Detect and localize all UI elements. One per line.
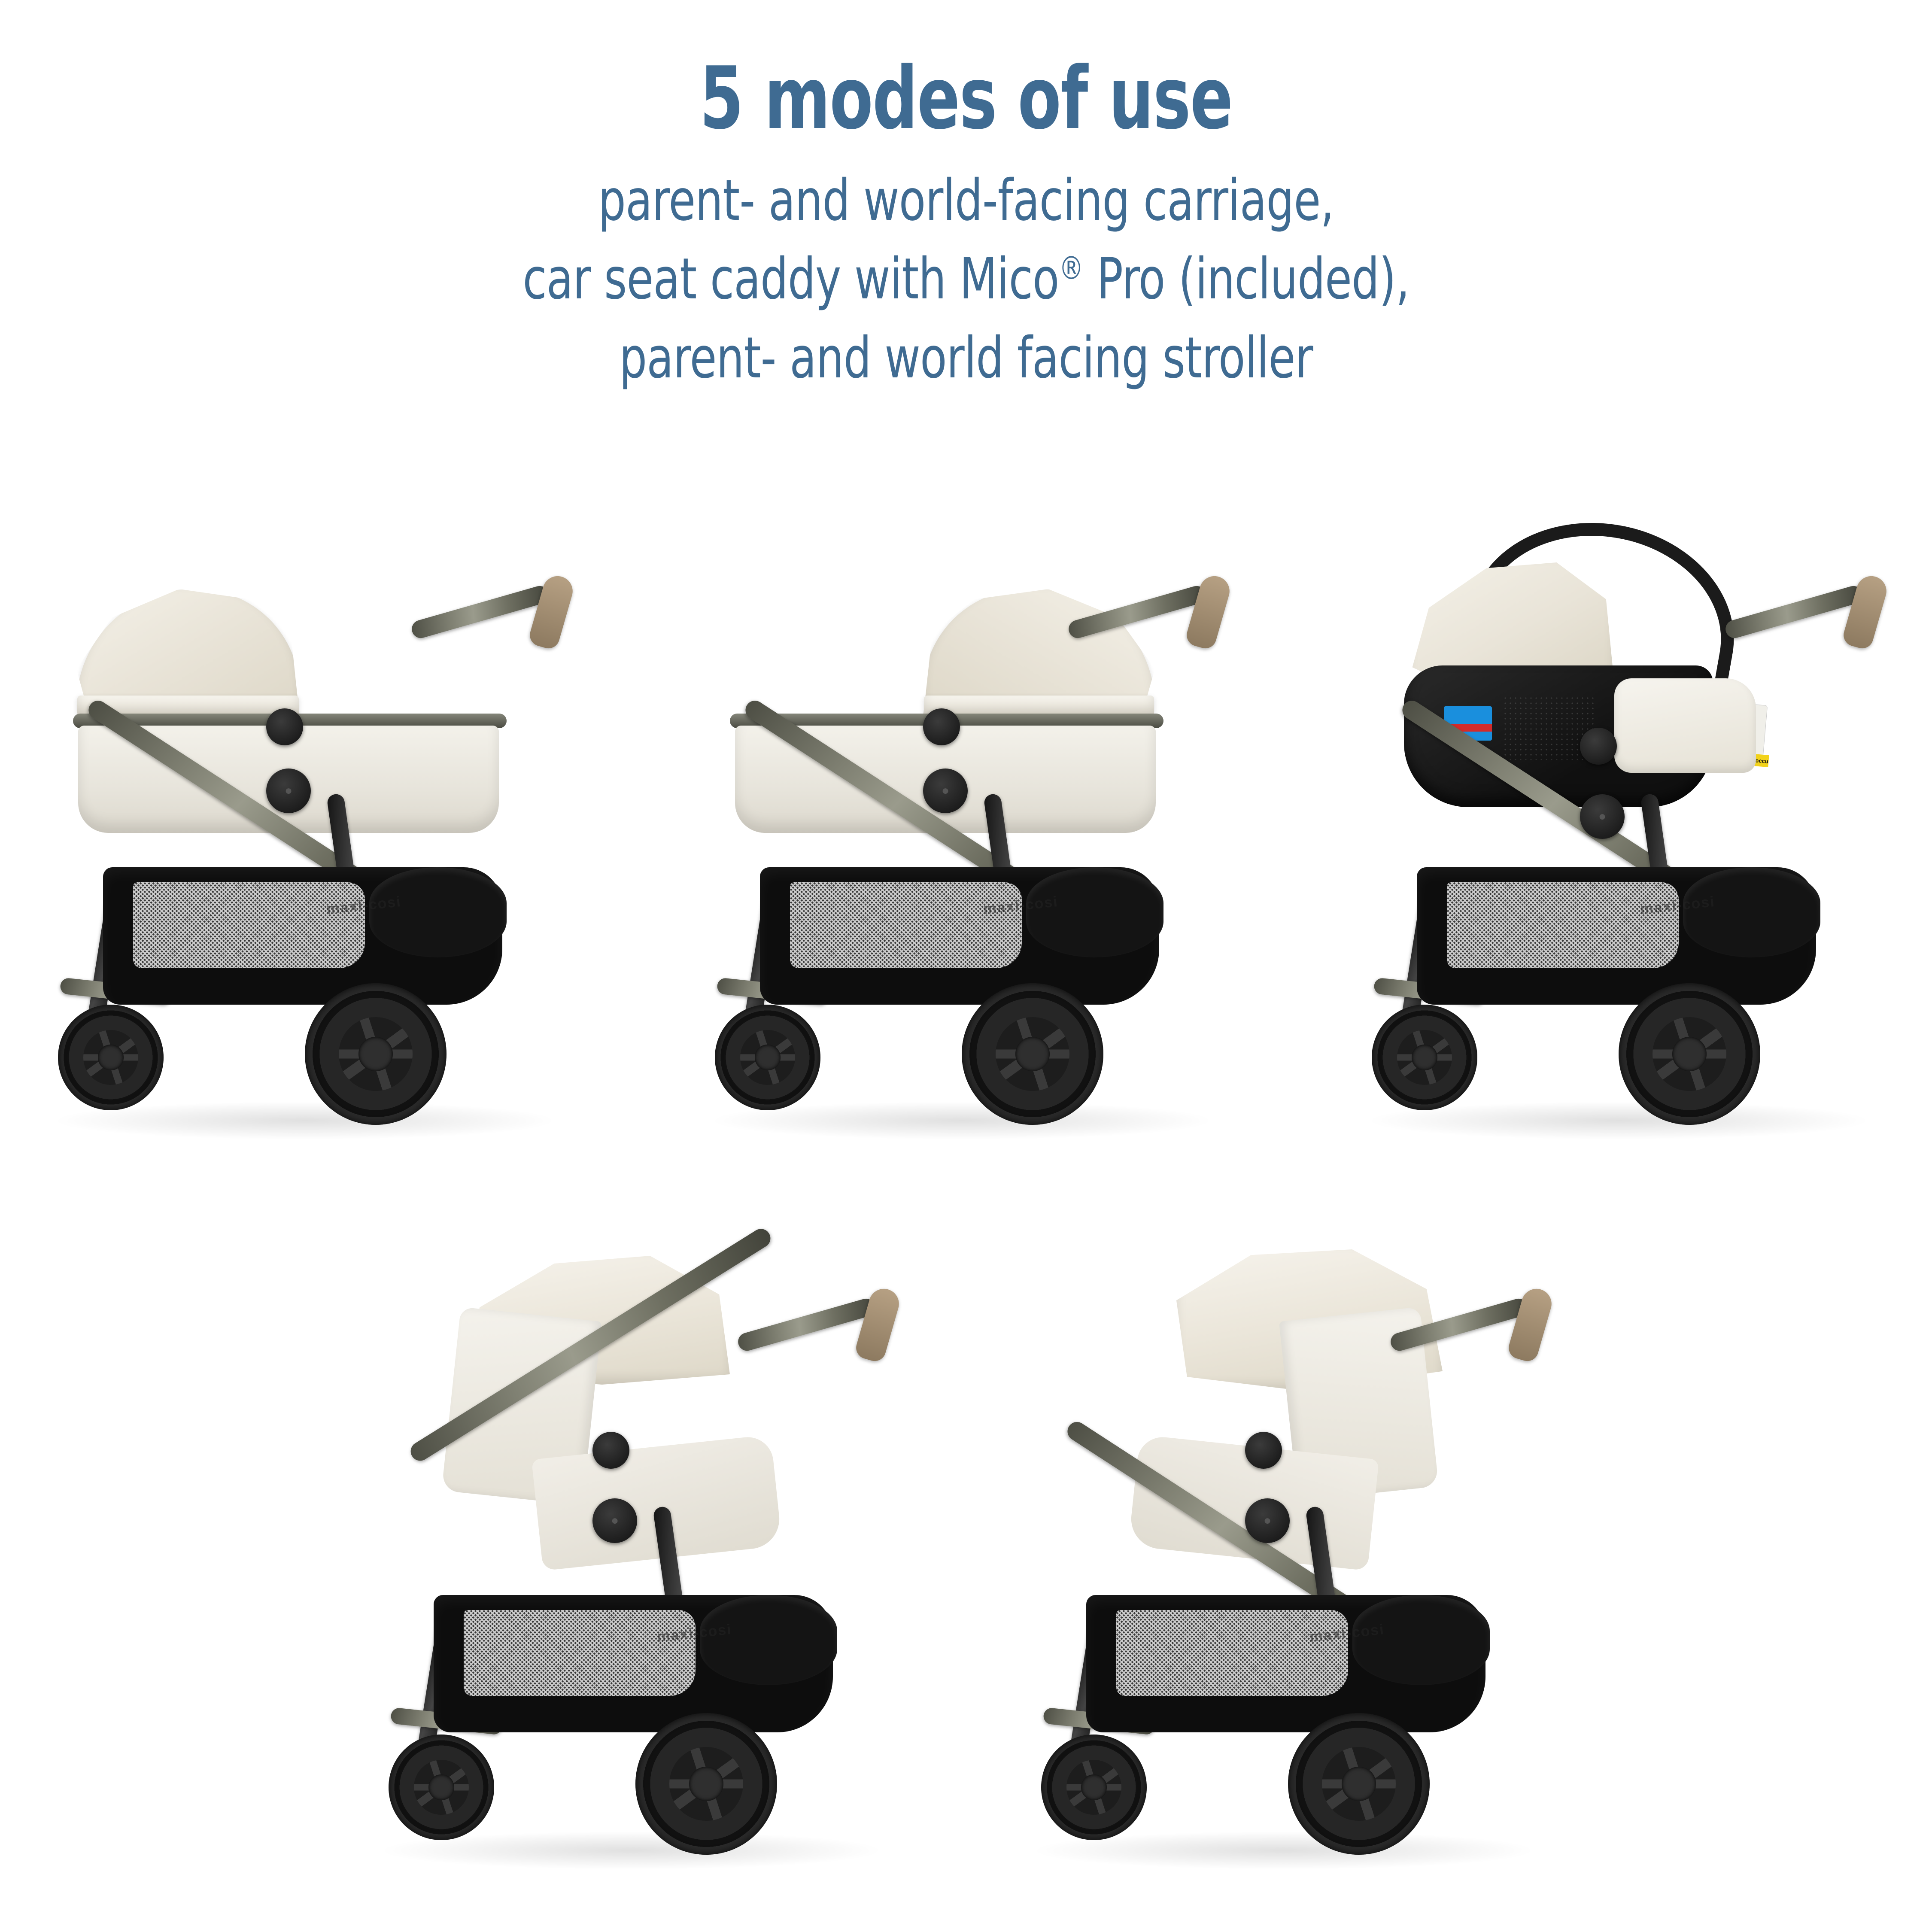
frame-hub-joint: ● — [266, 769, 311, 813]
handlebar-tube — [410, 584, 551, 640]
rear-wheel — [1288, 1713, 1430, 1855]
rear-wheel — [1619, 983, 1760, 1125]
registered-trademark-icon: ® — [1059, 250, 1083, 287]
frame-hub-joint: ● — [923, 769, 968, 813]
mode-2-world-facing-carriage: ● maxi-cosi — [683, 494, 1249, 1163]
rear-wheel — [962, 983, 1103, 1125]
basket-mesh-panel — [464, 1610, 696, 1696]
basket-lip — [1352, 1595, 1490, 1685]
page-title: 5 modes of use — [174, 0, 1758, 142]
front-wheel — [715, 1005, 820, 1110]
stroller-illustration: ● maxi-cosi — [352, 1206, 927, 1885]
mode-row-top: ● maxi-cosi — [0, 494, 1932, 1224]
basket-mesh-panel — [133, 882, 365, 968]
rear-wheel — [635, 1713, 777, 1855]
maxi-cosi-logo-icon: ● — [611, 1514, 619, 1527]
maxi-cosi-logo-icon: ● — [1598, 810, 1606, 823]
product-feature-image: 5 modes of use parent- and world-facing … — [0, 0, 1932, 1932]
frame-hub-upper — [592, 1432, 629, 1469]
handle-grip — [527, 573, 576, 651]
car-seat-caddy-illustration: WARNING! DEATH or SERIOUS INJURY can occ… — [1340, 494, 1906, 1163]
frame-hub-joint: ● — [1580, 794, 1625, 839]
product-mode-grid: ● maxi-cosi — [0, 494, 1932, 1932]
front-wheel — [58, 1005, 164, 1110]
handle-grip — [1184, 573, 1233, 651]
mode-5-parent-facing-stroller: ● maxi-cosi — [1005, 1206, 1580, 1885]
frame-hub-upper — [1580, 728, 1617, 765]
frame-hub-upper — [923, 708, 960, 745]
frame-hub-upper — [1245, 1432, 1282, 1469]
front-wheel — [1041, 1735, 1147, 1840]
subtitle-line-3: parent- and world facing stroller — [135, 319, 1797, 398]
subtitle-line-1: parent- and world-facing carriage, — [135, 161, 1797, 240]
handle-grip — [1506, 1285, 1555, 1364]
text-block: 5 modes of use parent- and world-facing … — [0, 0, 1932, 398]
stroller-illustration: ● maxi-cosi — [1005, 1206, 1580, 1885]
basket-lip — [1026, 867, 1163, 957]
frame-hub-upper — [266, 708, 303, 745]
basket-mesh-panel — [1447, 882, 1679, 968]
maxi-cosi-logo-icon: ● — [1264, 1514, 1271, 1527]
front-wheel — [1372, 1005, 1477, 1110]
subtitle-line-2-post: Pro (included), — [1083, 246, 1410, 312]
stroller-illustration: ● maxi-cosi — [683, 494, 1249, 1163]
subtitle: parent- and world-facing carriage, car s… — [135, 142, 1797, 398]
front-wheel — [389, 1735, 494, 1840]
rear-wheel — [305, 983, 447, 1125]
maxi-cosi-logo-icon: ● — [942, 784, 949, 797]
stroller-illustration: ● maxi-cosi — [26, 494, 592, 1163]
basket-lip — [369, 867, 507, 957]
frame-hub-joint: ● — [592, 1498, 637, 1543]
mode-row-bottom: ● maxi-cosi — [0, 1206, 1932, 1932]
handle-grip — [854, 1285, 902, 1364]
canopy-visor — [924, 696, 1154, 716]
basket-mesh-panel — [1116, 1610, 1348, 1696]
car-seat-fabric — [1614, 678, 1756, 773]
mode-3-car-seat-caddy: WARNING! DEATH or SERIOUS INJURY can occ… — [1340, 494, 1906, 1163]
handle-grip — [1841, 573, 1890, 651]
handlebar-tube — [736, 1297, 877, 1353]
frame-hub-joint: ● — [1245, 1498, 1290, 1543]
mode-4-world-facing-stroller: ● maxi-cosi — [352, 1206, 927, 1885]
basket-lip — [700, 1595, 837, 1685]
basket-lip — [1683, 867, 1820, 957]
mode-1-parent-facing-carriage: ● maxi-cosi — [26, 494, 592, 1163]
subtitle-line-2-pre: car seat caddy with Mico — [522, 246, 1059, 312]
handlebar-tube — [1723, 584, 1865, 640]
basket-mesh-panel — [790, 882, 1022, 968]
subtitle-line-2: car seat caddy with Mico® Pro (included)… — [135, 240, 1797, 319]
maxi-cosi-logo-icon: ● — [285, 784, 292, 797]
